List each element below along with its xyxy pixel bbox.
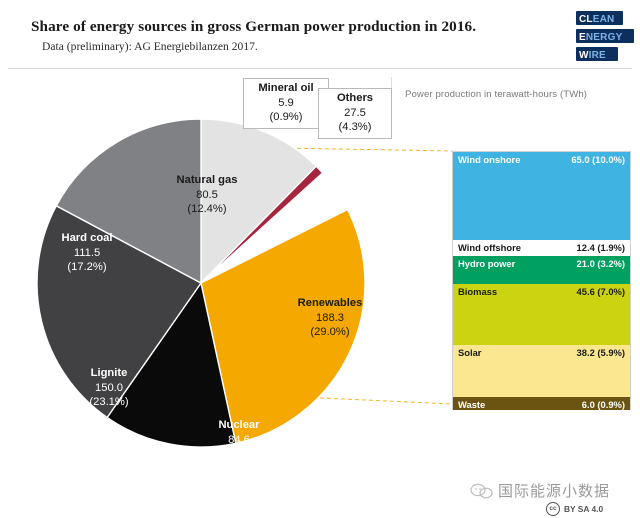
bar-segment-value: 12.4 (1.9%) [577,242,625,253]
clean-energy-wire-logo[interactable]: CLEAN ENERGY WIRE [576,9,628,57]
logo-line-3-light: IRE [589,50,606,61]
callout-mineral-oil: Mineral oil 5.9 (0.9%) [243,78,329,129]
bar-segment-biomass: Biomass45.6 (7.0%) [452,284,631,345]
bar-segment-value: 38.2 (5.9%) [577,347,625,358]
bar-segment-label: Hydro power [458,258,515,269]
page-title: Share of energy sources in gross German … [31,18,476,36]
chart-area: Power production in terawatt-hours (TWh)… [0,69,640,453]
unit-note: Power production in terawatt-hours (TWh) [405,89,587,100]
bar-segment-solar: Solar38.2 (5.9%) [452,345,631,397]
bar-segment-label: Wind offshore [458,242,521,253]
bar-segment-label: Waste [458,399,485,410]
bar-segment-wind-onshore: Wind onshore65.0 (10.0%) [452,152,631,240]
logo-line-1: CLEAN [576,11,623,25]
data-source-note: Data (preliminary): AG Energiebilanzen 2… [42,40,258,53]
wechat-icon [470,483,494,499]
callout-others: Others 27.5 (4.3%) [318,88,392,139]
bar-segment-label: Biomass [458,286,497,297]
logo-line-2-dark: E [579,32,586,43]
watermark-text: 国际能源小数据 [498,480,610,501]
logo-line-1-dark: CL [579,14,593,25]
bar-segment-hydro-power: Hydro power21.0 (3.2%) [452,256,631,284]
pie-svg [36,118,366,448]
watermark: 国际能源小数据 cc BY SA 4.0 [470,480,635,518]
logo-line-2: ENERGY [576,29,634,43]
logo-line-2-light: NERGY [586,32,623,43]
cc-icon: cc [546,502,560,516]
bar-segment-value: 65.0 (10.0%) [571,154,625,165]
bar-segment-label: Wind onshore [458,154,520,165]
logo-line-3: WIRE [576,47,618,61]
cc-license[interactable]: cc BY SA 4.0 [546,502,603,516]
bar-segment-label: Solar [458,347,481,358]
header: Share of energy sources in gross German … [0,0,640,69]
bar-segment-value: 6.0 (0.9%) [582,399,625,410]
logo-line-3-dark: W [579,50,589,61]
logo-line-1-light: EAN [593,14,615,25]
infographic-page: Share of energy sources in gross German … [0,0,640,453]
cc-license-text: BY SA 4.0 [564,504,603,514]
pie-chart: Natural gas 80.5 (12.4%) Hard coal 111.5… [36,118,366,448]
renewables-stacked-bar: Wind onshore65.0 (10.0%)Wind offshore12.… [452,151,631,406]
bar-segment-value: 21.0 (3.2%) [577,258,625,269]
bar-segment-wind-offshore: Wind offshore12.4 (1.9%) [452,240,631,257]
bar-segment-waste: Waste6.0 (0.9%) [452,397,631,410]
bar-segment-value: 45.6 (7.0%) [577,286,625,297]
